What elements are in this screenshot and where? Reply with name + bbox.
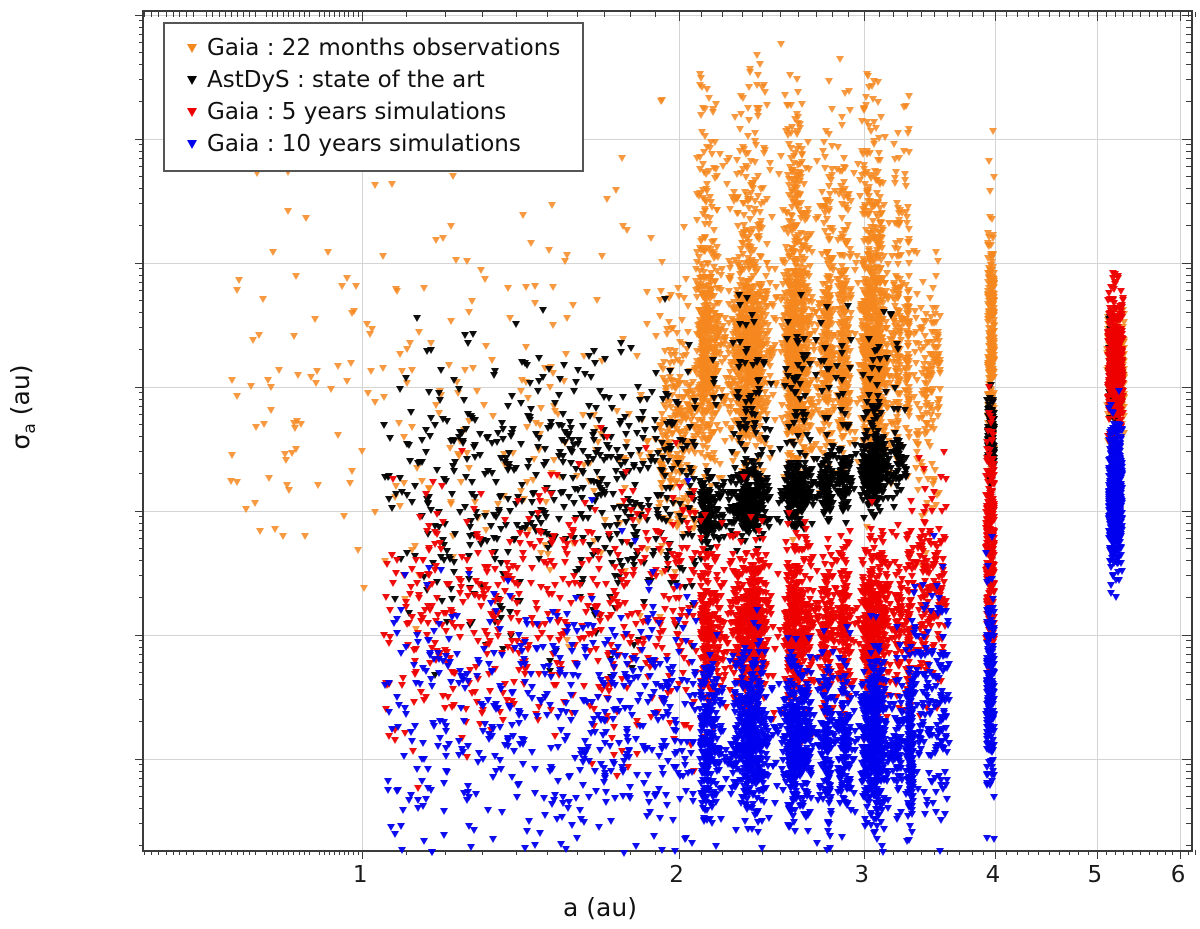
scatter-point bbox=[768, 214, 776, 221]
scatter-point bbox=[905, 260, 913, 267]
x-axis-minor-tick bbox=[319, 850, 320, 855]
scatter-point bbox=[808, 443, 816, 450]
scatter-point bbox=[847, 310, 855, 317]
scatter-point bbox=[874, 214, 882, 221]
scatter-point bbox=[228, 377, 236, 384]
scatter-point bbox=[763, 291, 771, 298]
x-axis-tick bbox=[995, 850, 996, 859]
scatter-point bbox=[838, 263, 846, 270]
scatter-point bbox=[726, 277, 734, 284]
scatter-point bbox=[736, 126, 744, 133]
scatter-point bbox=[703, 408, 711, 415]
x-tick-label: 1 bbox=[353, 862, 368, 888]
scatter-point bbox=[726, 369, 734, 376]
scatter-point bbox=[734, 223, 742, 230]
x-axis-minor-tick bbox=[983, 850, 984, 855]
scatter-point bbox=[826, 296, 834, 303]
scatter-point bbox=[705, 168, 713, 175]
scatter-point bbox=[348, 468, 356, 475]
scatter-point bbox=[546, 384, 554, 391]
scatter-point bbox=[680, 295, 688, 302]
scatter-point bbox=[825, 78, 833, 85]
scatter-point bbox=[334, 363, 342, 370]
scatter-point bbox=[769, 392, 777, 399]
scatter-point bbox=[863, 188, 871, 195]
y-axis-tick bbox=[135, 15, 144, 16]
scatter-point bbox=[751, 344, 759, 351]
scatter-point bbox=[684, 329, 692, 336]
scatter-point bbox=[777, 153, 785, 160]
scatter-point bbox=[753, 336, 761, 343]
scatter-point bbox=[702, 422, 710, 429]
scatter-point bbox=[904, 130, 912, 137]
scatter-point bbox=[805, 298, 813, 305]
scatter-point bbox=[825, 287, 833, 294]
scatter-point bbox=[932, 249, 940, 256]
scatter-point bbox=[813, 158, 821, 165]
scatter-point bbox=[838, 334, 846, 341]
scatter-point bbox=[801, 243, 809, 250]
scatter-point bbox=[537, 405, 545, 412]
scatter-point bbox=[825, 208, 833, 215]
scatter-point bbox=[755, 233, 763, 240]
scatter-point bbox=[747, 276, 755, 283]
x-axis-minor-tick bbox=[243, 850, 244, 855]
scatter-point bbox=[569, 302, 577, 309]
scatter-point bbox=[862, 313, 870, 320]
scatter-point bbox=[896, 332, 904, 339]
scatter-point bbox=[874, 157, 882, 164]
scatter-point bbox=[725, 155, 733, 162]
scatter-point bbox=[334, 432, 342, 439]
scatter-point bbox=[701, 342, 709, 349]
scatter-point bbox=[739, 144, 747, 151]
scatter-point bbox=[989, 235, 997, 242]
x-axis-minor-tick bbox=[339, 850, 340, 855]
scatter-point bbox=[841, 238, 849, 245]
x-axis-title: a (au) bbox=[0, 893, 1200, 922]
scatter-point bbox=[757, 254, 765, 261]
x-axis-minor-tick bbox=[1172, 850, 1173, 855]
scatter-point bbox=[751, 138, 759, 145]
scatter-point bbox=[324, 249, 332, 256]
x-axis-minor-tick bbox=[186, 850, 187, 855]
scatter-point bbox=[792, 223, 800, 230]
scatter-point bbox=[834, 144, 842, 151]
scatter-point bbox=[754, 193, 762, 200]
scatter-point bbox=[873, 190, 881, 197]
scatter-point bbox=[452, 257, 460, 264]
scatter-point bbox=[724, 404, 732, 411]
scatter-point bbox=[742, 151, 750, 158]
scatter-point bbox=[895, 222, 903, 229]
x-axis-minor-tick bbox=[144, 850, 145, 855]
x-axis-minor-tick bbox=[816, 850, 817, 855]
x-axis-minor-tick bbox=[1149, 850, 1150, 855]
scatter-point bbox=[931, 311, 939, 318]
scatter-point bbox=[739, 166, 747, 173]
x-axis-minor-tick bbox=[272, 850, 273, 855]
scatter-point bbox=[396, 503, 404, 510]
scatter-point bbox=[716, 313, 724, 320]
y-axis-tick bbox=[135, 263, 144, 264]
scatter-point bbox=[698, 129, 706, 136]
scatter-point bbox=[612, 187, 620, 194]
scatter-point bbox=[885, 220, 893, 227]
scatter-point bbox=[828, 166, 836, 173]
x-axis-minor-tick bbox=[722, 850, 723, 855]
scatter-point bbox=[929, 386, 937, 393]
scatter-point bbox=[718, 266, 726, 273]
x-axis-minor-tick bbox=[231, 850, 232, 855]
y-axis-tick bbox=[135, 139, 144, 140]
scatter-point bbox=[737, 266, 745, 273]
scatter-point bbox=[663, 326, 671, 333]
scatter-point bbox=[723, 181, 731, 188]
scatter-point bbox=[748, 180, 756, 187]
scatter-point bbox=[747, 158, 755, 165]
x-axis-minor-tick bbox=[293, 850, 294, 855]
scatter-point bbox=[795, 143, 803, 150]
scatter-point bbox=[379, 365, 387, 372]
scatter-point bbox=[793, 76, 801, 83]
scatter-point bbox=[824, 261, 832, 268]
scatter-point bbox=[779, 257, 787, 264]
scatter-point bbox=[284, 208, 292, 215]
scatter-point bbox=[703, 435, 711, 442]
x-axis-minor-tick bbox=[1078, 850, 1079, 855]
scatter-point bbox=[759, 369, 767, 376]
scatter-point bbox=[913, 377, 921, 384]
scatter-point bbox=[692, 266, 700, 273]
scatter-point bbox=[259, 296, 267, 303]
scatter-point bbox=[915, 477, 923, 484]
scatter-point bbox=[985, 243, 993, 250]
scatter-point bbox=[838, 122, 846, 129]
scatter-point bbox=[989, 366, 997, 373]
scatter-point bbox=[766, 167, 774, 174]
scatter-point bbox=[826, 236, 834, 243]
scatter-point bbox=[761, 407, 769, 414]
x-axis-minor-tick bbox=[604, 850, 605, 855]
x-axis-minor-tick bbox=[1123, 850, 1124, 855]
scatter-point bbox=[790, 160, 798, 167]
scatter-point bbox=[905, 413, 913, 420]
x-axis-tick bbox=[1180, 850, 1181, 859]
scatter-point bbox=[787, 102, 795, 109]
scatter-point bbox=[699, 399, 707, 406]
scatter-point bbox=[987, 295, 995, 302]
scatter-point bbox=[930, 320, 938, 327]
scatter-point bbox=[853, 400, 861, 407]
x-axis-minor-tick bbox=[179, 850, 180, 855]
scatter-point bbox=[784, 249, 792, 256]
scatter-point bbox=[905, 226, 913, 233]
scatter-point bbox=[847, 198, 855, 205]
scatter-point bbox=[379, 253, 387, 260]
x-axis-minor-tick bbox=[780, 850, 781, 855]
scatter-point bbox=[874, 375, 882, 382]
scatter-point bbox=[882, 380, 890, 387]
scatter-point bbox=[843, 192, 851, 199]
x-axis-minor-tick bbox=[212, 850, 213, 855]
scatter-point bbox=[896, 238, 904, 245]
x-axis-minor-tick bbox=[1028, 850, 1029, 855]
scatter-point bbox=[863, 71, 871, 78]
y-axis-tick bbox=[135, 635, 144, 636]
x-axis-tick bbox=[1097, 850, 1098, 859]
scatter-point bbox=[876, 235, 884, 242]
scatter-point bbox=[871, 277, 879, 284]
scatter-point bbox=[603, 196, 611, 203]
scatter-point bbox=[934, 406, 942, 413]
scatter-point bbox=[784, 344, 792, 351]
scatter-point bbox=[989, 252, 997, 259]
scatter-point bbox=[913, 291, 921, 298]
x-axis-minor-tick bbox=[1038, 850, 1039, 855]
x-axis-minor-tick bbox=[206, 850, 207, 855]
scatter-point bbox=[242, 506, 250, 513]
x-axis-minor-tick bbox=[1195, 850, 1196, 855]
scatter-point bbox=[838, 201, 846, 208]
scatter-point bbox=[751, 130, 759, 137]
scatter-point bbox=[269, 249, 277, 256]
scatter-point bbox=[784, 275, 792, 282]
scatter-point bbox=[765, 328, 773, 335]
scatter-point bbox=[905, 149, 913, 156]
scatter-point bbox=[301, 533, 309, 540]
scatter-point bbox=[732, 331, 740, 338]
scatter-point bbox=[694, 286, 702, 293]
scatter-point bbox=[689, 388, 697, 395]
scatter-point bbox=[710, 255, 718, 262]
scatter-point bbox=[876, 181, 884, 188]
x-axis-minor-tick bbox=[344, 850, 345, 855]
scatter-point bbox=[709, 109, 717, 116]
x-axis-minor-tick bbox=[1165, 850, 1166, 855]
scatter-point bbox=[647, 235, 655, 242]
x-axis-minor-tick bbox=[353, 850, 354, 855]
scatter-point bbox=[703, 86, 711, 93]
scatter-point bbox=[920, 318, 928, 325]
y-axis-title-symbol: σ bbox=[6, 434, 35, 450]
scatter-point bbox=[827, 337, 835, 344]
scatter-point bbox=[709, 455, 717, 462]
scatter-point bbox=[912, 340, 920, 347]
scatter-point bbox=[923, 400, 931, 407]
scatter-point bbox=[798, 101, 806, 108]
scatter-point bbox=[820, 220, 828, 227]
scatter-point bbox=[825, 183, 833, 190]
x-axis-minor-tick bbox=[1017, 850, 1018, 855]
scatter-point bbox=[826, 191, 834, 198]
scatter-point bbox=[816, 446, 824, 453]
scatter-point bbox=[793, 131, 801, 138]
x-axis-minor-tick bbox=[947, 850, 948, 855]
scatter-point bbox=[747, 284, 755, 291]
scatter-point bbox=[820, 139, 828, 146]
scatter-point bbox=[721, 438, 729, 445]
x-axis-minor-tick bbox=[309, 850, 310, 855]
x-axis-minor-tick bbox=[299, 850, 300, 855]
scatter-point bbox=[762, 273, 770, 280]
scatter-point bbox=[929, 285, 937, 292]
scatter-point bbox=[891, 156, 899, 163]
x-axis-minor-tick bbox=[255, 850, 256, 855]
scatter-point bbox=[709, 249, 717, 256]
scatter-point bbox=[716, 427, 724, 434]
scatter-point bbox=[754, 72, 762, 79]
x-axis-minor-tick bbox=[445, 850, 446, 855]
scatter-point bbox=[986, 270, 994, 277]
scatter-point bbox=[865, 123, 873, 130]
scatter-point bbox=[985, 158, 993, 165]
x-tick-label: 3 bbox=[854, 862, 869, 888]
scatter-point bbox=[860, 261, 868, 268]
x-axis-minor-tick bbox=[1069, 850, 1070, 855]
scatter-point bbox=[665, 319, 673, 326]
x-axis-minor-tick bbox=[907, 850, 908, 855]
scatter-point bbox=[923, 421, 931, 428]
x-axis-minor-tick bbox=[1049, 850, 1050, 855]
y-axis-tick bbox=[135, 387, 144, 388]
scatter-point bbox=[807, 423, 815, 430]
scatter-point bbox=[761, 89, 769, 96]
scatter-point bbox=[791, 150, 799, 157]
scatter-point bbox=[696, 190, 704, 197]
scatter-point bbox=[911, 349, 919, 356]
scatter-point bbox=[881, 134, 889, 141]
scatter-point bbox=[834, 237, 842, 244]
scatter-point bbox=[934, 258, 942, 265]
scatter-point bbox=[708, 204, 716, 211]
scatter-point bbox=[905, 236, 913, 243]
scatter-point bbox=[874, 99, 882, 106]
scatter-point bbox=[744, 105, 752, 112]
x-tick-label: 5 bbox=[1087, 862, 1102, 888]
scatter-point bbox=[874, 199, 882, 206]
scatter-point bbox=[865, 211, 873, 218]
scatter-point bbox=[986, 188, 994, 195]
x-axis-minor-tick bbox=[1188, 850, 1189, 855]
scatter-point bbox=[775, 171, 783, 178]
scatter-point bbox=[805, 166, 813, 173]
scatter-point bbox=[697, 112, 705, 119]
scatter-point bbox=[745, 228, 753, 235]
scatter-point bbox=[747, 244, 755, 251]
x-axis-minor-tick bbox=[166, 850, 167, 855]
scatter-point bbox=[756, 61, 764, 68]
scatter-point bbox=[912, 315, 920, 322]
scatter-point bbox=[694, 322, 702, 329]
x-axis-minor-tick bbox=[151, 850, 152, 855]
x-axis-minor-tick bbox=[237, 850, 238, 855]
scatter-point bbox=[793, 201, 801, 208]
scatter-point bbox=[697, 75, 705, 82]
scatter-point bbox=[726, 206, 734, 213]
scatter-point bbox=[837, 286, 845, 293]
scatter-point bbox=[756, 284, 764, 291]
scatter-point bbox=[763, 196, 771, 203]
scatter-point bbox=[805, 273, 813, 280]
scatter-point bbox=[751, 264, 759, 271]
scatter-point bbox=[469, 365, 477, 372]
scatter-point bbox=[793, 272, 801, 279]
scatter-point bbox=[439, 235, 447, 242]
scatter-point bbox=[791, 303, 799, 310]
scatter-point bbox=[489, 413, 497, 420]
scatter-point bbox=[753, 52, 761, 59]
scatter-point bbox=[990, 357, 998, 364]
x-axis-minor-tick bbox=[655, 850, 656, 855]
scatter-point bbox=[697, 247, 705, 254]
scatter-point bbox=[850, 170, 858, 177]
scatter-point bbox=[888, 421, 896, 428]
scatter-point bbox=[875, 150, 883, 157]
scatter-point bbox=[912, 465, 920, 472]
scatter-point bbox=[548, 202, 556, 209]
scatter-point bbox=[846, 107, 854, 114]
scatter-point bbox=[829, 228, 837, 235]
scatter-point bbox=[824, 197, 832, 204]
scatter-point bbox=[753, 327, 761, 334]
scatter-point bbox=[731, 114, 739, 121]
scatter-point bbox=[842, 227, 850, 234]
scatter-point bbox=[703, 291, 711, 298]
scatter-point bbox=[923, 429, 931, 436]
scatter-point bbox=[838, 435, 846, 442]
scatter-point bbox=[682, 276, 690, 283]
scatter-point bbox=[756, 221, 764, 228]
scatter-point bbox=[932, 273, 940, 280]
scatter-point bbox=[840, 155, 848, 162]
scatter-point bbox=[748, 301, 756, 308]
scatter-point bbox=[778, 402, 786, 409]
scatter-point bbox=[302, 215, 310, 222]
scatter-point bbox=[674, 285, 682, 292]
scatter-point bbox=[902, 357, 910, 364]
scatter-point bbox=[825, 174, 833, 181]
x-axis-tick bbox=[362, 850, 363, 859]
scatter-point bbox=[235, 277, 243, 284]
scatter-point bbox=[918, 370, 926, 377]
x-axis-minor-tick bbox=[1059, 850, 1060, 855]
scatter-point bbox=[838, 114, 846, 121]
scatter-point bbox=[371, 509, 379, 516]
scatter-point bbox=[824, 397, 832, 404]
scatter-point bbox=[812, 309, 820, 316]
scatter-point bbox=[745, 117, 753, 124]
scatter-point bbox=[891, 297, 899, 304]
x-axis-minor-tick bbox=[304, 850, 305, 855]
scatter-point bbox=[904, 320, 912, 327]
scatter-point bbox=[523, 424, 531, 431]
scatter-point bbox=[867, 302, 875, 309]
scatter-point bbox=[894, 261, 902, 268]
scatter-point bbox=[781, 92, 789, 99]
scatter-point bbox=[784, 311, 792, 318]
scatter-point bbox=[713, 285, 721, 292]
x-axis-minor-tick bbox=[701, 850, 702, 855]
scatter-point bbox=[488, 357, 496, 364]
scatter-point bbox=[987, 329, 995, 336]
scatter-point bbox=[447, 223, 455, 230]
scatter-point bbox=[838, 215, 846, 222]
scatter-point bbox=[267, 407, 275, 414]
scatter-point bbox=[987, 347, 995, 354]
scatter-point bbox=[900, 104, 908, 111]
scatter-point bbox=[891, 180, 899, 187]
